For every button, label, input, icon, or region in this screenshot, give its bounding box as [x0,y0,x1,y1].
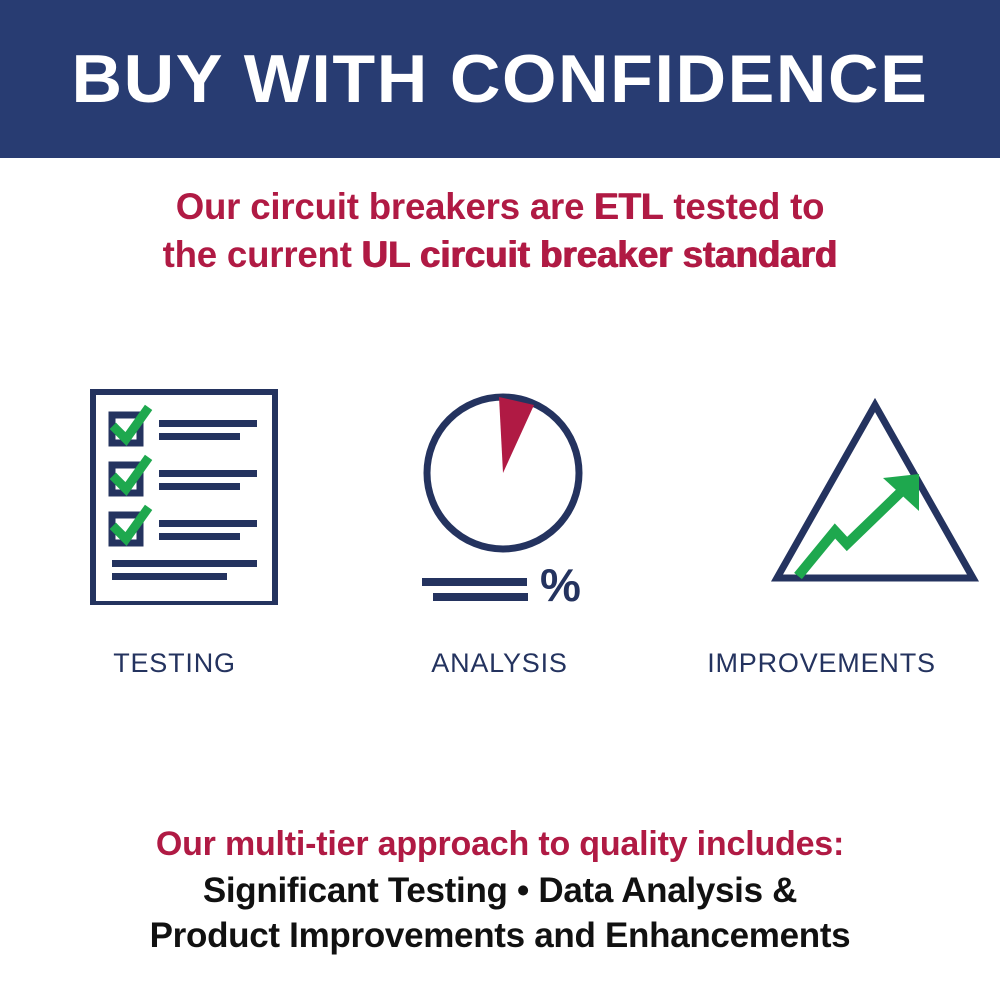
pie-chart-icon: % [333,375,666,605]
subtitle-etl-highlight: ETL [594,186,663,227]
header-banner: BUY WITH CONFIDENCE [0,0,1000,158]
icon-label-improvements: IMPROVEMENTS [655,648,988,679]
bottom-details-line-2: Product Improvements and Enhancements [0,913,1000,958]
subtitle-line1-post: tested to [663,186,824,227]
subtitle-line1-pre: Our circuit breakers are [176,186,595,227]
triangle-outline [777,405,973,578]
pie-chart-icon-cell: % [333,375,666,590]
icon-label-analysis: ANALYSIS [333,648,666,679]
percent-symbol: % [540,559,581,605]
checklist-icon-cell [0,375,333,590]
page-title: BUY WITH CONFIDENCE [72,45,929,113]
bottom-details-line-1: Significant Testing • Data Analysis & [0,868,1000,913]
bottom-details: Significant Testing • Data Analysis & Pr… [0,868,1000,958]
checklist-icon [0,375,333,605]
subtitle-text: Our circuit breakers are ETL tested to t… [5,183,995,279]
bottom-tagline: Our multi-tier approach to quality inclu… [0,822,1000,866]
subtitle-ul-highlight: UL circuit breaker standard [362,234,838,275]
bottom-text-block: Our multi-tier approach to quality inclu… [0,822,1000,958]
infographic-page: BUY WITH CONFIDENCE Our circuit breakers… [0,0,1000,1000]
subtitle-line-2: the current UL circuit breaker standard [5,231,995,279]
icon-row: % [0,375,1000,605]
growth-triangle-icon-cell [667,375,1000,590]
pie-legend-bars [422,578,528,601]
subtitle-line2-pre: the current [163,234,362,275]
growth-triangle-icon [667,375,1000,605]
icon-labels: TESTING ANALYSIS IMPROVEMENTS [0,648,1000,688]
icon-label-testing: TESTING [8,648,341,679]
subtitle-line-1: Our circuit breakers are ETL tested to [5,183,995,231]
